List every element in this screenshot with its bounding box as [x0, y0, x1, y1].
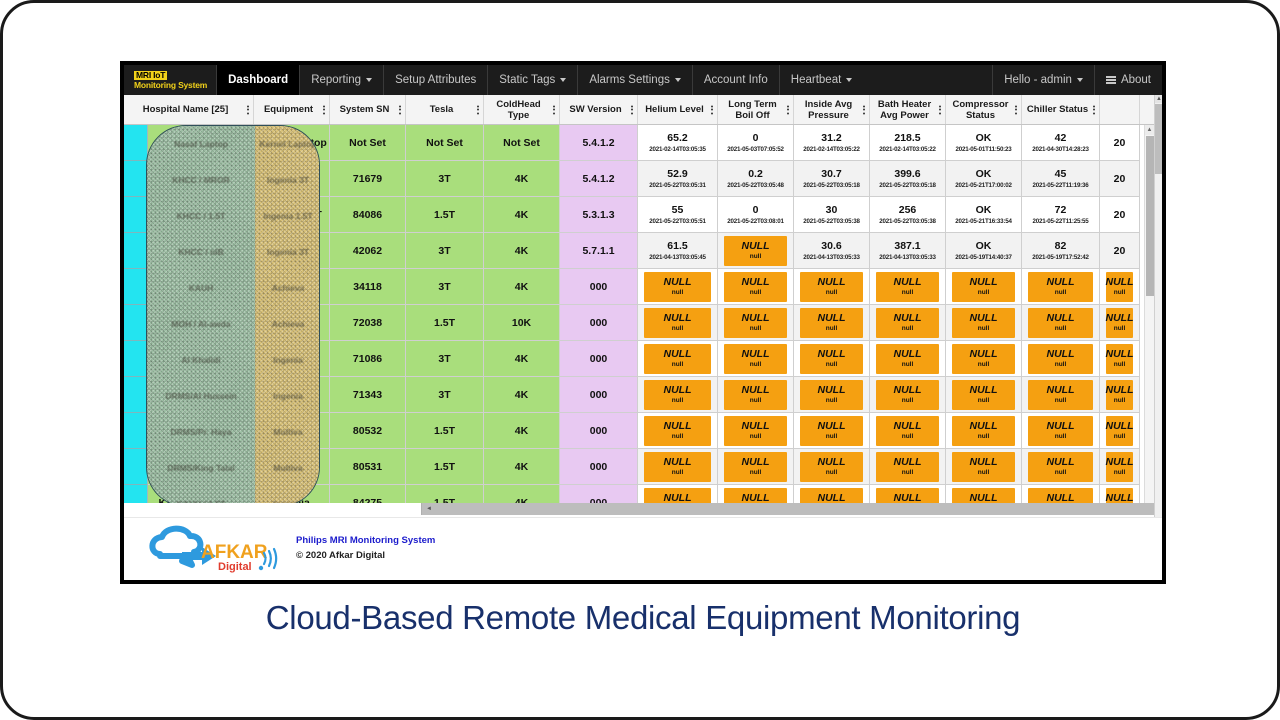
cell-value: Multiva — [273, 425, 309, 437]
cell-value: Ingenia — [273, 353, 310, 365]
null-value-badge: NULLnull — [876, 452, 939, 482]
null-value-badge: NULLnull — [876, 272, 939, 302]
nav-item-label: Static Tags — [499, 74, 555, 86]
grid-cell-pressure: NULLnull — [794, 413, 870, 449]
grid-cell-chiller: 722021-05-22T11:25:55 — [1022, 197, 1100, 233]
grid-header-tesla[interactable]: Tesla — [406, 95, 484, 124]
grid-row[interactable]: DRMS/Pr. HayaMultiva805321.5T4K000NULLnu… — [124, 413, 1154, 449]
grid-row[interactable]: Al KhalidiIngenia710863T4K000NULLnullNUL… — [124, 341, 1154, 377]
null-timestamp: null — [672, 433, 684, 441]
grid-cell-system_sn: 80532 — [330, 413, 406, 449]
null-timestamp: null — [826, 289, 838, 297]
grid-cell-system_sn: 34118 — [330, 269, 406, 305]
null-label: NULL — [1106, 276, 1134, 288]
grid-cell-boiloff: NULLnull — [718, 233, 794, 269]
null-timestamp: null — [1055, 325, 1067, 333]
null-value-badge: NULLnull — [952, 452, 1015, 482]
null-label: NULL — [894, 312, 922, 324]
null-label: NULL — [894, 276, 922, 288]
cell-timestamp: 2021-04-13T03:05:45 — [649, 254, 705, 262]
cell-value: 3T — [438, 281, 450, 293]
cell-timestamp: 2021-02-14T03:05:22 — [803, 146, 859, 154]
null-value-badge: NULLnull — [644, 452, 711, 482]
grid-cell-helium: NULLnull — [638, 413, 718, 449]
nav-item-alarms-settings[interactable]: Alarms Settings — [577, 65, 692, 95]
grid-header-label: Hospital Name [25] — [143, 104, 229, 115]
grid-cell-coldhead: 4K — [484, 233, 560, 269]
cell-value: 4K — [515, 425, 528, 437]
grid-cell-coldhead: Not Set — [484, 125, 560, 161]
cell-timestamp: 2021-05-01T11:50:23 — [955, 146, 1011, 154]
cell-value: 72038 — [353, 317, 382, 329]
null-value-badge: NULLnull — [1028, 272, 1093, 302]
cell-value: 3T — [438, 353, 450, 365]
cell-value: 256 — [899, 204, 917, 216]
footer-product-name: Philips MRI Monitoring System — [296, 534, 435, 548]
row-selector-cell[interactable] — [124, 233, 147, 269]
cell-value: 34118 — [353, 281, 382, 293]
cell-timestamp: 2021-05-21T17:00:02 — [955, 182, 1011, 190]
null-label: NULL — [894, 348, 922, 360]
null-label: NULL — [742, 312, 770, 324]
page-scrollbar[interactable]: ▲ — [1154, 95, 1162, 584]
grid-vertical-scrollbar-thumb[interactable] — [1146, 136, 1154, 296]
column-menu-icon[interactable] — [323, 105, 325, 114]
row-selector-cell[interactable] — [124, 377, 147, 413]
null-timestamp: null — [902, 325, 914, 333]
grid-cell-helium: 552021-05-22T03:05:51 — [638, 197, 718, 233]
null-value-badge: NULLnull — [724, 272, 787, 302]
null-label: NULL — [1047, 348, 1075, 360]
cell-value: 4K — [515, 281, 528, 293]
null-value-badge: NULLnull — [800, 380, 863, 410]
null-label: NULL — [1106, 312, 1134, 324]
grid-cell-pressure: 30.72021-05-22T03:05:18 — [794, 161, 870, 197]
null-label: NULL — [664, 276, 692, 288]
row-selector-cell[interactable] — [124, 125, 147, 161]
grid-cell-pressure: 302021-05-22T03:05:38 — [794, 197, 870, 233]
cell-value: Multiva — [273, 461, 309, 473]
grid-cell-tesla: 1.5T — [406, 305, 484, 341]
chevron-down-icon — [846, 78, 852, 82]
cell-value: Kernel Laptop — [256, 137, 327, 149]
grid-cell-coldhead: 4K — [484, 269, 560, 305]
grid-cell-sw: 5.7.1.1 — [560, 233, 638, 269]
cell-value: 1.5T — [434, 461, 455, 473]
cell-value: 31.2 — [821, 132, 841, 144]
grid-header-hospital-name-25-[interactable]: Hospital Name [25] — [124, 95, 254, 124]
cell-value: 80532 — [353, 425, 382, 437]
null-timestamp: null — [672, 397, 684, 405]
grid-cell-boiloff: NULLnull — [718, 269, 794, 305]
column-menu-icon[interactable] — [553, 105, 555, 114]
grid-cell-compressor: NULLnull — [946, 449, 1022, 485]
grid-row[interactable]: Nasaf LaptopKernel LaptopNot SetNot SetN… — [124, 125, 1154, 161]
afkar-logo-svg: AFKAR Digital — [146, 524, 286, 574]
null-label: NULL — [818, 348, 846, 360]
cell-value: 42 — [1055, 132, 1067, 144]
null-value-badge: NULLnull — [1106, 452, 1133, 482]
grid-cell-equipment: Ingenia 1.5T — [254, 197, 330, 233]
null-value-badge: NULLnull — [800, 452, 863, 482]
null-timestamp: null — [1055, 469, 1067, 477]
grid-header-sw-version[interactable]: SW Version — [560, 95, 638, 124]
grid-header-system-sn[interactable]: System SN — [330, 95, 406, 124]
cell-timestamp: 2021-05-19T14:40:37 — [955, 254, 1011, 262]
null-value-badge: NULLnull — [800, 308, 863, 338]
grid-cell-boiloff: 0.22021-05-22T03:05:48 — [718, 161, 794, 197]
null-timestamp: null — [978, 325, 990, 333]
scroll-up-icon[interactable]: ▲ — [1155, 95, 1163, 103]
cell-value: KAUH — [173, 281, 203, 293]
grid-scroll-left-icon[interactable]: ◄ — [422, 503, 436, 515]
column-menu-icon[interactable] — [711, 105, 713, 114]
page-scrollbar-thumb[interactable] — [1155, 104, 1163, 174]
column-menu-icon[interactable] — [247, 105, 249, 114]
null-value-badge: NULLnull — [1028, 452, 1093, 482]
grid-cell-pressure: 31.22021-02-14T03:05:22 — [794, 125, 870, 161]
grid-cell-helium: NULLnull — [638, 449, 718, 485]
grid-cell-pressure: NULLnull — [794, 377, 870, 413]
nav-item-setup-attributes[interactable]: Setup Attributes — [383, 65, 487, 95]
column-menu-icon[interactable] — [863, 105, 865, 114]
grid-horizontal-scrollbar-thumb[interactable] — [124, 503, 422, 515]
null-timestamp: null — [902, 289, 914, 297]
grid-cell-chiller: NULLnull — [1022, 449, 1100, 485]
cell-value: 000 — [590, 353, 608, 365]
column-menu-icon[interactable] — [631, 105, 633, 114]
row-selector-cell[interactable] — [124, 197, 147, 233]
null-value-badge: NULLnull — [724, 380, 787, 410]
grid-header-label: System SN — [340, 104, 390, 115]
null-timestamp: null — [750, 433, 762, 441]
null-value-badge: NULLnull — [644, 272, 711, 302]
grid-cell-system_sn: 71343 — [330, 377, 406, 413]
cell-value: 30.7 — [821, 168, 841, 180]
null-timestamp: null — [978, 361, 990, 369]
cell-timestamp: 2021-02-14T03:05:22 — [879, 146, 935, 154]
null-label: NULL — [1106, 420, 1134, 432]
null-timestamp: null — [672, 361, 684, 369]
cell-value: 55 — [672, 204, 684, 216]
cell-value: 71086 — [353, 353, 382, 365]
cell-value: Not Set — [349, 137, 386, 149]
null-label: NULL — [664, 348, 692, 360]
null-label: NULL — [742, 348, 770, 360]
grid-cell-boiloff: NULLnull — [718, 449, 794, 485]
grid-cell-heater: NULLnull — [870, 269, 946, 305]
cell-timestamp: 2021-04-30T14:28:23 — [1032, 146, 1088, 154]
grid-row[interactable]: KHCC / MRORIngenia 3T716793T4K5.4.1.252.… — [124, 161, 1154, 197]
null-label: NULL — [742, 384, 770, 396]
grid-header-chiller-status[interactable]: Chiller Status — [1022, 95, 1100, 124]
grid-horizontal-scrollbar[interactable]: ◄ — [124, 503, 1154, 515]
cell-value: Not Set — [503, 137, 540, 149]
nav-item-label: Setup Attributes — [395, 74, 476, 86]
cell-value: DRMS/Al Hussein — [144, 389, 232, 401]
nav-item-label: Alarms Settings — [589, 74, 670, 86]
null-timestamp: null — [750, 289, 762, 297]
grid-cell-pressure: NULLnull — [794, 449, 870, 485]
grid-cell-equipment: Ingenia — [254, 341, 330, 377]
grid-cell-compressor: NULLnull — [946, 269, 1022, 305]
column-menu-icon[interactable] — [399, 105, 401, 114]
app-logo: MRI IoT Monitoring System — [124, 65, 216, 95]
null-value-badge: NULLnull — [1106, 272, 1133, 302]
grid-cell-sw: 5.3.1.3 — [560, 197, 638, 233]
null-value-badge: NULLnull — [1106, 380, 1133, 410]
grid-cell-equipment: Kernel Laptop — [254, 125, 330, 161]
cell-value: 3T — [438, 389, 450, 401]
cell-value: 20 — [1114, 137, 1126, 149]
nav-item-heartbeat[interactable]: Heartbeat — [779, 65, 864, 95]
grid-cell-compressor: OK2021-05-21T17:00:02 — [946, 161, 1022, 197]
cell-value: 1.5T — [434, 425, 455, 437]
grid-cell-coldhead: 4K — [484, 449, 560, 485]
row-selector-cell[interactable] — [124, 449, 147, 485]
column-menu-icon[interactable] — [787, 105, 789, 114]
null-timestamp: null — [750, 361, 762, 369]
cell-value: DRMS/King Talal — [147, 461, 230, 473]
chevron-down-icon — [366, 78, 372, 82]
row-selector-cell[interactable] — [124, 305, 147, 341]
column-menu-icon[interactable] — [1093, 105, 1095, 114]
grid-header-equipment[interactable]: Equipment — [254, 95, 330, 124]
cell-timestamp: 2021-05-22T03:05:38 — [803, 218, 859, 226]
cell-value: OK — [976, 240, 992, 252]
grid-row[interactable]: KHCC / 1.5TIngenia 1.5T840861.5T4K5.3.1.… — [124, 197, 1154, 233]
row-selector-cell[interactable] — [124, 161, 147, 197]
grid-cell-chiller: 422021-04-30T14:28:23 — [1022, 125, 1100, 161]
grid-cell-extra: NULLnull — [1100, 377, 1140, 413]
nav-item-reporting[interactable]: Reporting — [299, 65, 383, 95]
cell-value: 20 — [1114, 245, 1126, 257]
grid-header-label: Long Term Boil Off — [722, 99, 783, 121]
null-value-badge: NULLnull — [952, 416, 1015, 446]
grid-cell-chiller: NULLnull — [1022, 341, 1100, 377]
grid-cell-system_sn: 71679 — [330, 161, 406, 197]
nav-item-account-info[interactable]: Account Info — [692, 65, 779, 95]
grid-cell-compressor: NULLnull — [946, 413, 1022, 449]
null-label: NULL — [1106, 348, 1134, 360]
grid-cell-boiloff: NULLnull — [718, 341, 794, 377]
chevron-down-icon — [560, 78, 566, 82]
nav-item-dashboard[interactable]: Dashboard — [216, 65, 299, 95]
null-timestamp: null — [750, 397, 762, 405]
user-menu[interactable]: Hello - admin — [992, 65, 1094, 95]
slide-title: Cloud-Based Remote Medical Equipment Mon… — [3, 599, 1280, 637]
null-label: NULL — [742, 420, 770, 432]
grid-header-row: Hospital Name [25]EquipmentSystem SNTesl… — [124, 95, 1154, 125]
null-timestamp: null — [902, 361, 914, 369]
grid-cell-equipment: Achieva — [254, 305, 330, 341]
cell-value: KHCC / 1.5T — [158, 209, 218, 221]
null-label: NULL — [970, 420, 998, 432]
grid-cell-tesla: 3T — [406, 233, 484, 269]
grid-header-blank[interactable] — [1100, 95, 1140, 124]
cell-value: OK — [976, 168, 992, 180]
cell-value: 72 — [1055, 204, 1067, 216]
grid-header-long-term-boil-off[interactable]: Long Term Boil Off — [718, 95, 794, 124]
null-timestamp: null — [978, 289, 990, 297]
list-icon — [1106, 76, 1116, 84]
null-value-badge: NULLnull — [644, 344, 711, 374]
grid-row[interactable]: DRMS/Al HusseinIngenia713433T4K000NULLnu… — [124, 377, 1154, 413]
grid-row[interactable]: KAUHAchieva341183T4K000NULLnullNULLnullN… — [124, 269, 1154, 305]
grid-cell-tesla: 1.5T — [406, 449, 484, 485]
null-label: NULL — [742, 240, 770, 252]
null-timestamp: null — [1114, 397, 1126, 405]
cell-timestamp: 2021-05-22T03:05:51 — [649, 218, 705, 226]
grid-header-label: Equipment — [264, 104, 313, 115]
grid-header-coldhead-type[interactable]: ColdHead Type — [484, 95, 560, 124]
svg-text:AFKAR: AFKAR — [201, 542, 268, 563]
cell-value: Nasaf Laptop — [155, 137, 222, 149]
null-value-badge: NULLnull — [644, 416, 711, 446]
null-timestamp: null — [826, 325, 838, 333]
grid-scroll-up-icon[interactable]: ▲ — [1145, 125, 1154, 135]
grid-header-inside-avg-pressure[interactable]: Inside Avg Pressure — [794, 95, 870, 124]
null-timestamp: null — [1114, 469, 1126, 477]
grid-header-label: Bath Heater Avg Power — [874, 99, 935, 121]
null-value-badge: NULLnull — [1028, 380, 1093, 410]
grid-cell-extra: 20 — [1100, 161, 1140, 197]
grid-cell-chiller: NULLnull — [1022, 377, 1100, 413]
grid-cell-compressor: OK2021-05-19T14:40:37 — [946, 233, 1022, 269]
cell-value: 45 — [1055, 168, 1067, 180]
grid-cell-helium: NULLnull — [638, 269, 718, 305]
cell-value: Ingenia — [273, 389, 310, 401]
grid-cell-boiloff: NULLnull — [718, 305, 794, 341]
grid-row[interactable]: KHCC / olBIngenia 3T420623T4K5.7.1.161.5… — [124, 233, 1154, 269]
grid-cell-chiller: 822021-05-19T17:52:42 — [1022, 233, 1100, 269]
cell-value: OK — [976, 204, 992, 216]
null-timestamp: null — [1055, 433, 1067, 441]
grid-row[interactable]: MOH / Al-awdaAchieva720381.5T10K000NULLn… — [124, 305, 1154, 341]
null-timestamp: null — [1114, 325, 1126, 333]
cell-value: 1.5T — [434, 317, 455, 329]
null-label: NULL — [664, 420, 692, 432]
footer-text-block: Philips MRI Monitoring System © 2020 Afk… — [296, 534, 435, 564]
grid-cell-pressure: 30.62021-04-13T03:05:33 — [794, 233, 870, 269]
grid-cell-chiller: 452021-05-22T11:19:36 — [1022, 161, 1100, 197]
null-value-badge: NULLnull — [724, 344, 787, 374]
grid-cell-pressure: NULLnull — [794, 341, 870, 377]
cell-value: 3T — [438, 173, 450, 185]
cell-value: 218.5 — [894, 132, 920, 144]
grid-cell-boiloff: NULLnull — [718, 413, 794, 449]
row-selector-cell[interactable] — [124, 413, 147, 449]
null-value-badge: NULLnull — [876, 344, 939, 374]
grid-cell-tesla: 1.5T — [406, 413, 484, 449]
null-value-badge: NULLnull — [1028, 308, 1093, 338]
cell-timestamp: 2021-04-13T03:05:33 — [879, 254, 935, 262]
grid-cell-chiller: NULLnull — [1022, 269, 1100, 305]
grid-cell-heater: NULLnull — [870, 377, 946, 413]
null-value-badge: NULLnull — [1106, 308, 1133, 338]
column-menu-icon[interactable] — [477, 105, 479, 114]
cell-value: 82 — [1055, 240, 1067, 252]
null-timestamp: null — [826, 361, 838, 369]
grid-header-label: Compressor Status — [950, 99, 1011, 121]
app-footer: AFKAR Digital Philips MRI Monitoring Sys… — [124, 517, 1162, 580]
null-timestamp: null — [1114, 289, 1126, 297]
grid-cell-tesla: 3T — [406, 161, 484, 197]
app-logo-line2: Monitoring System — [134, 80, 207, 90]
grid-header-bath-heater-avg-power[interactable]: Bath Heater Avg Power — [870, 95, 946, 124]
grid-cell-compressor: NULLnull — [946, 341, 1022, 377]
cell-value: 3T — [438, 245, 450, 257]
cell-value: 10K — [512, 317, 531, 329]
null-label: NULL — [1106, 384, 1134, 396]
grid-cell-pressure: NULLnull — [794, 305, 870, 341]
null-timestamp: null — [672, 469, 684, 477]
row-selector-strip[interactable] — [124, 125, 148, 507]
grid-cell-sw: 000 — [560, 413, 638, 449]
user-menu-label: Hello - admin — [1004, 74, 1072, 86]
column-menu-icon[interactable] — [1015, 105, 1017, 114]
null-label: NULL — [894, 420, 922, 432]
about-menu[interactable]: About — [1094, 65, 1162, 95]
row-selector-cell[interactable] — [124, 341, 147, 377]
null-value-badge: NULLnull — [800, 272, 863, 302]
cell-value: 52.9 — [667, 168, 687, 180]
grid-cell-sw: 000 — [560, 269, 638, 305]
cell-value: 0 — [753, 204, 759, 216]
cell-value: 000 — [590, 281, 608, 293]
grid-row[interactable]: DRMS/King TalalMultiva805311.5T4K000NULL… — [124, 449, 1154, 485]
null-value-badge: NULLnull — [1028, 416, 1093, 446]
chevron-down-icon — [1077, 78, 1083, 82]
null-value-badge: NULLnull — [876, 416, 939, 446]
grid-cell-sw: 000 — [560, 341, 638, 377]
chevron-down-icon — [675, 78, 681, 82]
grid-cell-coldhead: 4K — [484, 377, 560, 413]
grid-cell-compressor: NULLnull — [946, 377, 1022, 413]
grid-header-compressor-status[interactable]: Compressor Status — [946, 95, 1022, 124]
grid-header-label: Chiller Status — [1027, 104, 1088, 115]
nav-item-static-tags[interactable]: Static Tags — [487, 65, 577, 95]
top-navigation-bar: MRI IoT Monitoring System DashboardRepor… — [124, 65, 1162, 95]
grid-cell-system_sn: 84086 — [330, 197, 406, 233]
grid-cell-chiller: NULLnull — [1022, 305, 1100, 341]
grid-cell-tesla: 3T — [406, 341, 484, 377]
footer-copyright: © 2020 Afkar Digital — [296, 548, 435, 564]
grid-cell-pressure: NULLnull — [794, 269, 870, 305]
null-value-badge: NULLnull — [724, 416, 787, 446]
null-value-badge: NULLnull — [876, 380, 939, 410]
null-label: NULL — [970, 384, 998, 396]
null-value-badge: NULLnull — [800, 344, 863, 374]
row-selector-cell[interactable] — [124, 269, 147, 305]
null-timestamp: null — [1055, 289, 1067, 297]
null-value-badge: NULLnull — [952, 272, 1015, 302]
grid-vertical-scrollbar[interactable]: ▲ — [1144, 125, 1154, 507]
grid-cell-equipment: Achieva — [254, 269, 330, 305]
column-menu-icon[interactable] — [939, 105, 941, 114]
grid-cell-extra: NULLnull — [1100, 413, 1140, 449]
cell-value: 84086 — [353, 209, 382, 221]
null-timestamp: null — [826, 469, 838, 477]
grid-cell-extra: NULLnull — [1100, 341, 1140, 377]
nav-item-label: Reporting — [311, 74, 361, 86]
cell-value: 1.5T — [434, 209, 455, 221]
grid-header-helium-level[interactable]: Helium Level — [638, 95, 718, 124]
grid-cell-sw: 5.4.1.2 — [560, 125, 638, 161]
null-value-badge: NULLnull — [952, 344, 1015, 374]
null-timestamp: null — [902, 433, 914, 441]
grid-cell-tesla: 3T — [406, 377, 484, 413]
